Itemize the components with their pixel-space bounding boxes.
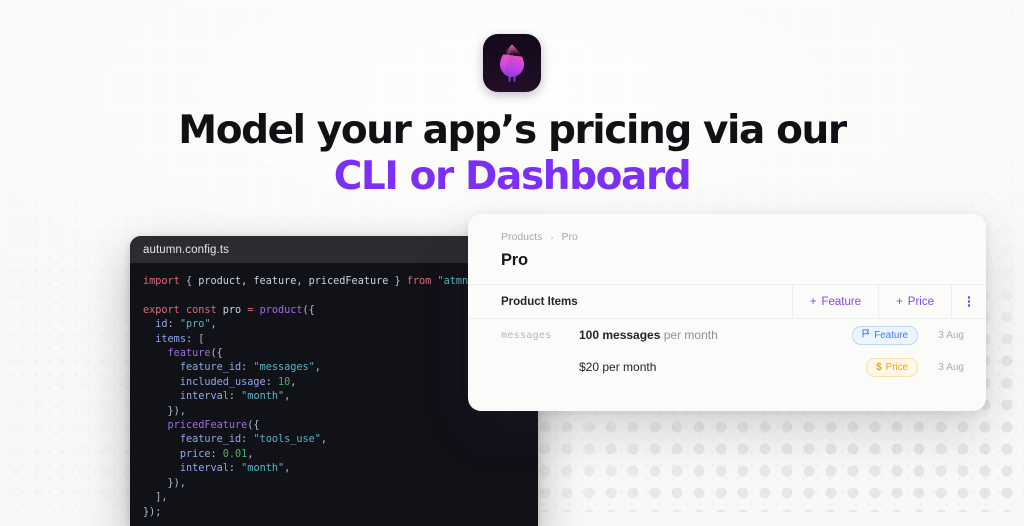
code-line: }), <box>143 477 538 491</box>
code-token: : [ <box>186 334 204 345</box>
code-token: from <box>407 276 432 287</box>
code-line: ], <box>143 491 538 505</box>
badge-slot: $Price <box>822 358 918 377</box>
flag-icon <box>862 329 870 341</box>
code-token: ({ <box>247 420 259 431</box>
code-token: , <box>315 362 321 373</box>
dashboard-panel: Products › Pro Pro Product Items + Featu… <box>468 214 986 411</box>
status-badge: $Price <box>866 358 918 377</box>
code-token: 10 <box>278 377 290 388</box>
code-token <box>143 391 180 402</box>
product-item-key: messages <box>501 330 579 341</box>
code-token: product, feature, pricedFeature <box>192 276 394 287</box>
breadcrumb-item-products[interactable]: Products <box>501 231 542 243</box>
code-token: : <box>241 362 253 373</box>
product-items-toolbar: Product Items + Feature + Price <box>468 284 986 319</box>
breadcrumb: Products › Pro <box>501 231 986 243</box>
add-feature-label: Feature <box>821 296 861 308</box>
code-token: const <box>186 305 217 316</box>
code-token: included_usage <box>180 377 266 388</box>
code-token: interval <box>180 391 229 402</box>
code-token <box>143 319 155 330</box>
code-token: interval <box>180 463 229 474</box>
code-token: : <box>241 434 253 445</box>
code-token: : <box>168 319 180 330</box>
more-dot <box>968 296 971 299</box>
code-token <box>143 420 168 431</box>
code-token <box>143 463 180 474</box>
more-dot <box>968 304 971 307</box>
code-token: }), <box>143 406 186 417</box>
chevron-right-icon: › <box>550 232 553 242</box>
dashboard-header: Products › Pro Pro <box>468 214 986 270</box>
code-line: pricedFeature({ <box>143 419 538 433</box>
code-token: , <box>290 377 296 388</box>
code-token: }); <box>143 507 161 518</box>
status-badge-label: Feature <box>874 330 908 341</box>
code-token: : <box>229 391 241 402</box>
product-item-date: 3 Aug <box>918 362 964 373</box>
code-token: ({ <box>210 348 222 359</box>
code-token <box>143 362 180 373</box>
code-token <box>143 449 180 460</box>
code-token: 0.01 <box>223 449 248 460</box>
code-token: import <box>143 276 180 287</box>
dollar-icon: $ <box>876 362 881 373</box>
code-token: "pro" <box>180 319 211 330</box>
code-token: ({ <box>303 305 315 316</box>
code-token: ], <box>143 492 168 503</box>
code-token: export <box>143 305 180 316</box>
code-token <box>143 334 155 345</box>
more-dot <box>968 300 971 303</box>
code-token: , <box>321 434 327 445</box>
code-token: , <box>284 391 290 402</box>
hero-section: Model your app’s pricing via our CLI or … <box>0 0 1024 199</box>
code-token: id <box>155 319 167 330</box>
code-token: feature_id <box>180 434 241 445</box>
product-item-row[interactable]: $20 per month$Price3 Aug <box>468 351 986 383</box>
product-item-description: $20 per month <box>579 360 822 374</box>
code-token: feature <box>168 348 211 359</box>
code-token: : <box>229 463 241 474</box>
code-token <box>143 377 180 388</box>
code-token <box>143 434 180 445</box>
more-vertical-icon[interactable] <box>951 285 986 318</box>
code-line: interval: "month", <box>143 462 538 476</box>
product-item-description: 100 messages per month <box>579 328 822 342</box>
code-token: "tools_use" <box>253 434 320 445</box>
plus-icon: + <box>810 296 817 308</box>
code-token: , <box>247 449 253 460</box>
add-price-button[interactable]: + Price <box>878 285 951 318</box>
code-token: feature_id <box>180 362 241 373</box>
headline-line-1: Model your app’s pricing via our <box>178 108 845 153</box>
code-token: items <box>155 334 186 345</box>
plus-icon: + <box>896 296 903 308</box>
product-item-row[interactable]: messages100 messages per monthFeature3 A… <box>468 319 986 351</box>
code-token: "month" <box>241 391 284 402</box>
status-badge-label: Price <box>886 362 908 373</box>
page-title: Model your app’s pricing via our CLI or … <box>0 108 1024 199</box>
code-token: price <box>180 449 211 460</box>
add-price-label: Price <box>908 296 934 308</box>
code-token: }), <box>143 478 186 489</box>
product-items-list: messages100 messages per monthFeature3 A… <box>468 319 986 383</box>
status-badge: Feature <box>852 326 918 345</box>
code-token: , <box>211 319 217 330</box>
code-line: feature_id: "tools_use", <box>143 433 538 447</box>
autumn-leaf-logo-icon <box>483 34 541 92</box>
headline-line-2: CLI or Dashboard <box>0 154 1024 200</box>
badge-slot: Feature <box>822 326 918 345</box>
code-token: product <box>260 305 303 316</box>
breadcrumb-item-current[interactable]: Pro <box>561 231 577 243</box>
code-token: : <box>266 377 278 388</box>
product-items-label: Product Items <box>468 285 792 318</box>
product-item-amount: 100 messages <box>579 328 660 342</box>
code-token: : <box>210 449 222 460</box>
code-line: }); <box>143 506 538 520</box>
product-item-date: 3 Aug <box>918 330 964 341</box>
code-token: pricedFeature <box>168 420 248 431</box>
code-token: , <box>284 463 290 474</box>
dashboard-page-title: Pro <box>501 251 986 270</box>
code-token: "month" <box>241 463 284 474</box>
product-item-period: per month <box>660 328 717 342</box>
code-token: "messages" <box>253 362 314 373</box>
code-token <box>143 348 168 359</box>
code-editor-filename: autumn.config.ts <box>143 244 229 256</box>
add-feature-button[interactable]: + Feature <box>792 285 878 318</box>
code-token: pro <box>217 305 248 316</box>
product-item-amount: $20 per month <box>579 360 656 374</box>
code-line: price: 0.01, <box>143 448 538 462</box>
